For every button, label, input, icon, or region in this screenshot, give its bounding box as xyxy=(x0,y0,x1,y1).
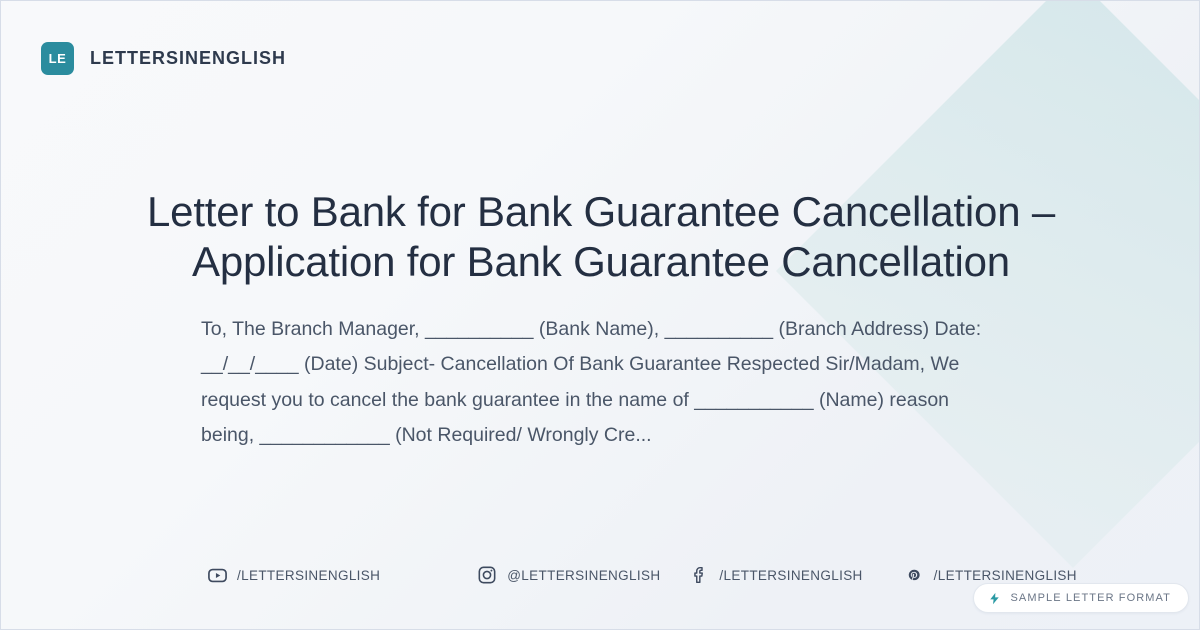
brand-monogram-text: LE xyxy=(49,51,67,66)
status-badge: SAMPLE LETTER FORMAT xyxy=(973,583,1189,613)
brand-monogram-icon: LE xyxy=(41,42,74,75)
page-title: Letter to Bank for Bank Guarantee Cancel… xyxy=(61,187,1141,286)
social-handle-youtube: /LETTERSINENGLISH xyxy=(237,568,380,583)
social-handle-instagram: @LETTERSINENGLISH xyxy=(507,568,660,583)
status-badge-label: SAMPLE LETTER FORMAT xyxy=(1010,592,1171,604)
social-link-youtube[interactable]: /LETTERSINENGLISH xyxy=(206,564,380,586)
social-handle-pinterest: /LETTERSINENGLISH xyxy=(934,568,1077,583)
social-share-card: LE LETTERSINENGLISH Letter to Bank for B… xyxy=(0,0,1200,630)
social-link-facebook[interactable]: /LETTERSINENGLISH xyxy=(688,564,862,586)
social-links-bar: /LETTERSINENGLISH @LETTERSINENGLISH /LET… xyxy=(206,564,1077,586)
lightning-bolt-icon xyxy=(988,591,1001,606)
social-link-instagram[interactable]: @LETTERSINENGLISH xyxy=(476,564,660,586)
brand-logo[interactable]: LE LETTERSINENGLISH xyxy=(41,42,286,75)
social-handle-facebook: /LETTERSINENGLISH xyxy=(719,568,862,583)
article-excerpt: To, The Branch Manager, __________ (Bank… xyxy=(201,312,991,454)
instagram-icon xyxy=(476,564,498,586)
facebook-icon xyxy=(688,564,710,586)
pinterest-icon xyxy=(903,564,925,586)
brand-name: LETTERSINENGLISH xyxy=(90,48,286,69)
youtube-icon xyxy=(206,564,228,586)
